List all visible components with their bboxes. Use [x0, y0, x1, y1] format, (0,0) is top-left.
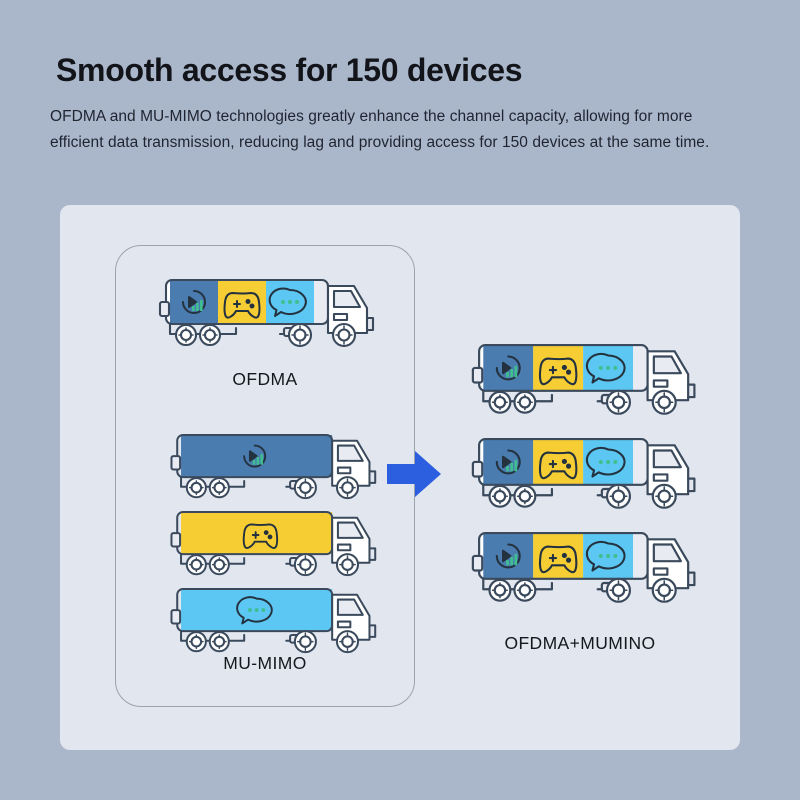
- truck-mumimo-2: [160, 510, 380, 582]
- label-combined: OFDMA+MUMINO: [480, 633, 680, 654]
- truck-mumimo-1: [160, 433, 380, 505]
- truck-ofdma-1: [148, 278, 378, 353]
- page-description: OFDMA and MU-MIMO technologies greatly e…: [50, 104, 710, 157]
- truck-combined-3: [460, 531, 700, 609]
- truck-combined-2: [460, 437, 700, 515]
- page-title: Smooth access for 150 devices: [56, 51, 736, 89]
- label-ofdma: OFDMA: [205, 369, 325, 390]
- transform-arrow-icon: [385, 448, 443, 500]
- label-mumimo: MU-MIMO: [205, 653, 325, 674]
- diagram-panel: OFDMA: [60, 205, 740, 750]
- truck-mumimo-3: [160, 587, 380, 659]
- truck-combined-1: [460, 343, 700, 421]
